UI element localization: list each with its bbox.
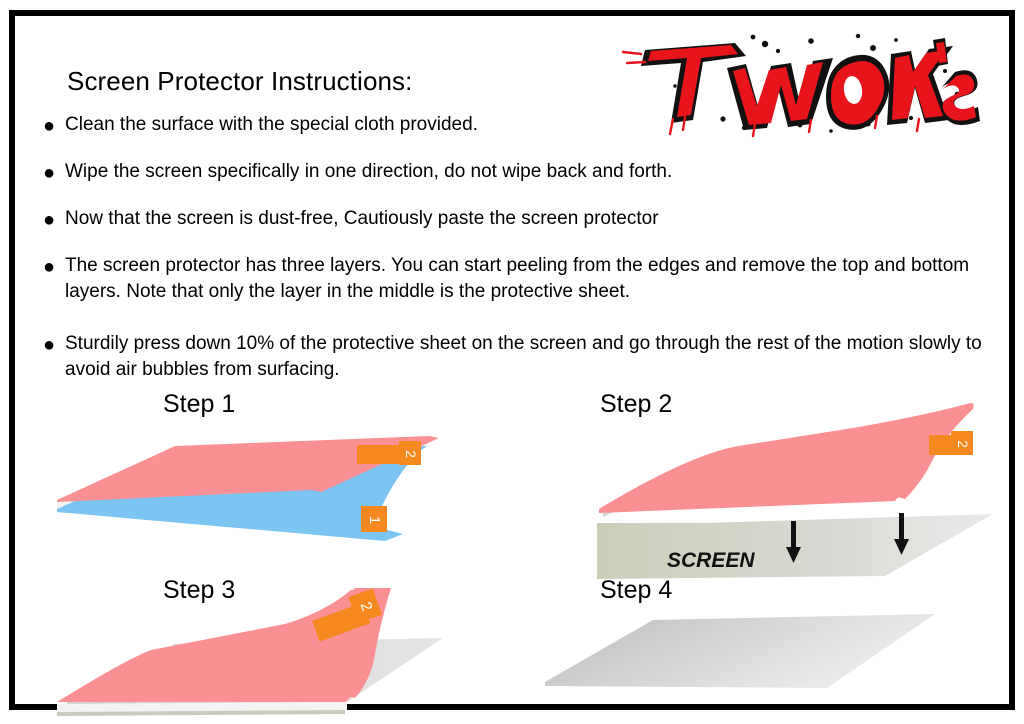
step-2-diagram: SCREEN 2 bbox=[595, 401, 995, 581]
step-1-label: Step 1 bbox=[163, 390, 235, 419]
bullet-icon: ● bbox=[43, 206, 65, 233]
bullet-icon: ● bbox=[43, 331, 65, 358]
list-item: ● The screen protector has three layers.… bbox=[43, 253, 983, 305]
bullet-icon: ● bbox=[43, 159, 65, 186]
list-item-text: Now that the screen is dust-free, Cautio… bbox=[65, 206, 983, 232]
list-item: ● Now that the screen is dust-free, Caut… bbox=[43, 206, 983, 233]
logo-letter-counters bbox=[842, 75, 864, 105]
step-2-svg: SCREEN 2 bbox=[595, 401, 995, 586]
list-item-text: Sturdily press down 10% of the protectiv… bbox=[65, 331, 983, 383]
list-item-text: Clean the surface with the special cloth… bbox=[65, 112, 983, 138]
bullet-icon: ● bbox=[43, 112, 65, 139]
screen-label: SCREEN bbox=[667, 549, 755, 572]
step-3-svg: 2 bbox=[55, 594, 455, 724]
step-1-diagram: 2 1 bbox=[55, 416, 455, 561]
instructions-list: ● Clean the surface with the special clo… bbox=[43, 112, 983, 403]
step-3-diagram: 2 bbox=[55, 594, 455, 719]
card-content: Screen Protector Instructions: ● Clean t… bbox=[15, 16, 1021, 716]
tab-2-number: 2 bbox=[403, 450, 419, 458]
step-4-svg bbox=[535, 606, 995, 716]
page-title: Screen Protector Instructions: bbox=[67, 66, 412, 97]
tab-1: 1 bbox=[361, 506, 387, 532]
bullet-icon: ● bbox=[43, 253, 65, 280]
list-item: ● Clean the surface with the special clo… bbox=[43, 112, 983, 139]
list-item: ● Wipe the screen specifically in one di… bbox=[43, 159, 983, 186]
list-item-text: The screen protector has three layers. Y… bbox=[65, 253, 983, 305]
step-1-svg: 2 1 bbox=[55, 416, 455, 566]
screen-surface bbox=[545, 614, 935, 688]
list-item-text: Wipe the screen specifically in one dire… bbox=[65, 159, 983, 185]
tab-1-number: 1 bbox=[366, 516, 383, 524]
tab-2-number: 2 bbox=[955, 440, 971, 448]
list-item: ● Sturdily press down 10% of the protect… bbox=[43, 331, 983, 383]
instruction-card-frame: Screen Protector Instructions: ● Clean t… bbox=[9, 10, 1015, 710]
step-4-diagram bbox=[535, 606, 995, 711]
